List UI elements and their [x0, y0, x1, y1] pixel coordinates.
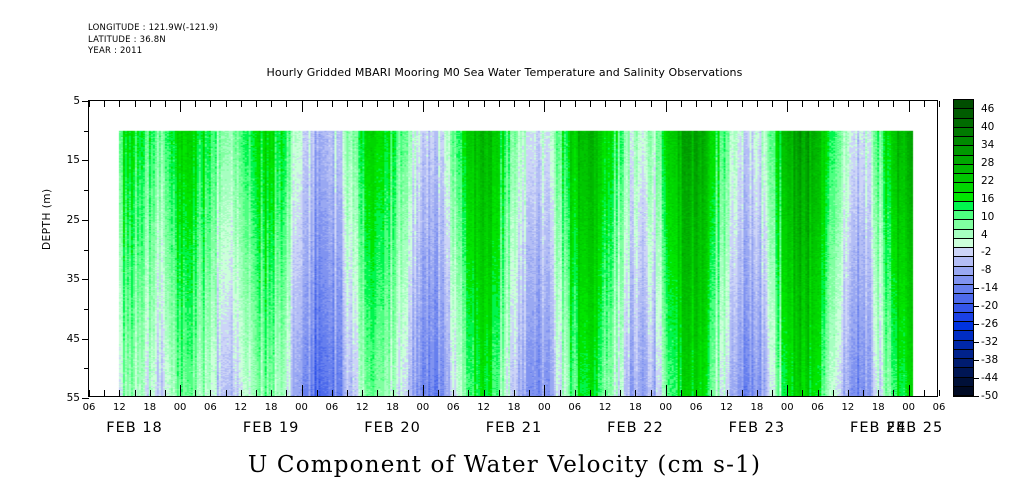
x-tick: [605, 390, 606, 396]
colorbar-label: -20: [981, 300, 998, 312]
x-tick: [453, 390, 454, 396]
colorbar-label: -44: [981, 372, 998, 384]
x-tick: [408, 101, 409, 107]
x-tick: [468, 390, 469, 396]
x-tick: [347, 390, 348, 396]
x-tick: [666, 101, 667, 112]
colorbar-label: -8: [981, 264, 991, 276]
x-tick: [514, 101, 515, 107]
x-tick: [119, 101, 120, 107]
x-tick: [317, 390, 318, 396]
x-tick: [818, 390, 819, 396]
x-tick: [848, 390, 849, 396]
x-tick: [195, 101, 196, 107]
colorbar-band: [954, 156, 973, 165]
x-tick: [393, 390, 394, 396]
colorbar-label: 22: [981, 175, 994, 187]
x-tick: [104, 101, 105, 107]
x-tick: [150, 390, 151, 396]
x-tick: [909, 385, 910, 396]
colorbar-label: 10: [981, 211, 994, 223]
x-hour-label: 18: [872, 402, 885, 413]
x-tick: [286, 390, 287, 396]
x-tick: [787, 101, 788, 112]
y-tick-label: 15: [67, 154, 80, 166]
x-tick: [696, 390, 697, 396]
x-tick: [150, 101, 151, 107]
x-tick: [484, 390, 485, 396]
y-tick-label: 25: [67, 214, 80, 226]
x-tick: [742, 101, 743, 107]
x-tick: [180, 101, 181, 112]
x-tick: [165, 390, 166, 396]
x-tick: [256, 101, 257, 107]
x-tick: [757, 390, 758, 396]
x-tick: [651, 101, 652, 107]
x-hour-label: 18: [265, 402, 278, 413]
variable-title: U Component of Water Velocity (cm s-1): [0, 452, 1009, 478]
x-tick: [878, 101, 879, 107]
x-hour-label: 06: [204, 402, 217, 413]
x-tick: [772, 390, 773, 396]
x-tick: [484, 101, 485, 107]
y-tick-minor: [84, 131, 89, 132]
x-tick: [135, 390, 136, 396]
x-tick: [226, 101, 227, 107]
colorbar-tick: [973, 360, 979, 361]
x-tick: [423, 385, 424, 396]
colorbar-band: [954, 183, 973, 192]
colorbar-label: -50: [981, 390, 998, 402]
x-tick: [757, 101, 758, 107]
x-hour-label: 06: [690, 402, 703, 413]
colorbar-tick: [973, 324, 979, 325]
x-tick: [544, 385, 545, 396]
colorbar-label: -38: [981, 354, 998, 366]
x-tick: [605, 101, 606, 107]
colorbar-band: [954, 276, 973, 285]
x-hour-label: 06: [811, 402, 824, 413]
x-tick: [590, 390, 591, 396]
x-tick: [241, 390, 242, 396]
x-tick: [711, 390, 712, 396]
x-hour-label: 00: [902, 402, 915, 413]
x-tick: [620, 390, 621, 396]
colorbar-band: [954, 109, 973, 118]
x-tick: [575, 390, 576, 396]
x-tick: [863, 390, 864, 396]
x-tick: [210, 101, 211, 107]
x-tick: [772, 101, 773, 107]
x-tick: [544, 101, 545, 112]
x-tick: [560, 390, 561, 396]
x-tick: [271, 101, 272, 107]
x-hour-label: 18: [629, 402, 642, 413]
x-tick: [438, 390, 439, 396]
y-tick-label: 35: [67, 273, 80, 285]
x-tick: [362, 390, 363, 396]
y-tick-label: 55: [67, 392, 80, 404]
x-tick: [681, 390, 682, 396]
x-hour-label: 00: [538, 402, 551, 413]
y-tick-minor: [84, 250, 89, 251]
x-hour-label: 12: [599, 402, 612, 413]
x-tick: [393, 101, 394, 107]
x-day-label: FEB 23: [729, 420, 786, 436]
x-tick: [893, 390, 894, 396]
colorbar-band: [954, 294, 973, 303]
x-hour-label: 12: [477, 402, 490, 413]
colorbar-band: [954, 165, 973, 174]
x-tick: [438, 101, 439, 107]
colorbar-band: [954, 137, 973, 146]
x-tick: [833, 101, 834, 107]
x-tick: [332, 390, 333, 396]
y-tick-minor: [84, 190, 89, 191]
x-day-label: FEB 19: [243, 420, 300, 436]
colorbar-band: [954, 202, 973, 211]
x-tick: [423, 101, 424, 112]
x-hour-label: 12: [842, 402, 855, 413]
x-tick: [165, 101, 166, 107]
y-tick-major: [82, 101, 89, 102]
x-tick: [119, 390, 120, 396]
colorbar: 464034282216104-2-8-14-20-26-32-38-44-50: [953, 99, 974, 397]
x-tick: [635, 390, 636, 396]
x-tick: [742, 390, 743, 396]
x-tick: [635, 101, 636, 107]
x-tick: [818, 101, 819, 107]
x-tick: [104, 390, 105, 396]
heatmap-plot-area: 51525354555 0612180006121800061218000612…: [88, 100, 938, 397]
x-tick: [302, 101, 303, 112]
y-tick-major: [82, 398, 89, 399]
colorbar-band: [954, 239, 973, 248]
colorbar-band: [954, 350, 973, 359]
y-tick-minor: [84, 368, 89, 369]
colorbar-tick: [973, 396, 979, 397]
x-hour-label: 00: [295, 402, 308, 413]
colorbar-band: [954, 359, 973, 368]
y-tick-label: 5: [73, 95, 80, 107]
x-day-label: FEB 18: [106, 420, 163, 436]
colorbar-band: [954, 285, 973, 294]
heatmap-canvas: [89, 101, 937, 396]
colorbar-band: [954, 341, 973, 350]
colorbar-tick: [973, 306, 979, 307]
colorbar-tick: [973, 342, 979, 343]
colorbar-band: [954, 322, 973, 331]
x-tick: [909, 101, 910, 112]
x-tick: [347, 101, 348, 107]
colorbar-band: [954, 304, 973, 313]
x-tick: [575, 101, 576, 107]
colorbar-band: [954, 313, 973, 322]
x-tick: [833, 390, 834, 396]
x-tick: [560, 101, 561, 107]
x-tick: [256, 390, 257, 396]
colorbar-label: 16: [981, 193, 994, 205]
x-hour-label: 12: [113, 402, 126, 413]
x-tick: [939, 101, 940, 107]
x-tick: [651, 390, 652, 396]
x-hour-label: 06: [325, 402, 338, 413]
x-hour-label: 06: [83, 402, 96, 413]
colorbar-band: [954, 100, 973, 109]
x-tick: [468, 101, 469, 107]
x-tick: [499, 390, 500, 396]
colorbar-band: [954, 257, 973, 266]
y-tick-minor: [84, 309, 89, 310]
x-tick: [696, 101, 697, 107]
x-hour-label: 12: [234, 402, 247, 413]
x-tick: [893, 101, 894, 107]
colorbar-band: [954, 331, 973, 340]
x-tick: [271, 390, 272, 396]
colorbar-band: [954, 119, 973, 128]
x-tick: [787, 385, 788, 396]
x-tick: [802, 390, 803, 396]
x-tick: [377, 101, 378, 107]
x-tick: [529, 101, 530, 107]
x-day-label: FEB 25: [887, 420, 944, 436]
x-tick: [863, 101, 864, 107]
y-tick-label: 45: [67, 333, 80, 345]
x-tick: [666, 385, 667, 396]
x-tick: [848, 101, 849, 107]
colorbar-band: [954, 174, 973, 183]
x-tick: [529, 390, 530, 396]
colorbar-label: 34: [981, 139, 994, 151]
colorbar-band: [954, 368, 973, 377]
colorbar-band: [954, 230, 973, 239]
station-metadata: LONGITUDE : 121.9W(-121.9) LATITUDE : 36…: [88, 23, 218, 58]
x-tick: [241, 101, 242, 107]
colorbar-band: [954, 220, 973, 229]
y-axis-title: DEPTH (m): [41, 188, 53, 250]
colorbar-label: -2: [981, 246, 991, 258]
colorbar-band: [954, 193, 973, 202]
y-tick-major: [82, 339, 89, 340]
x-tick: [180, 385, 181, 396]
colorbar-label: 4: [981, 229, 988, 241]
y-tick-major: [82, 220, 89, 221]
x-day-label: FEB 22: [607, 420, 664, 436]
x-tick: [620, 101, 621, 107]
colorbar-band: [954, 248, 973, 257]
x-tick: [408, 390, 409, 396]
x-tick: [924, 101, 925, 107]
x-hour-label: 12: [720, 402, 733, 413]
x-tick: [377, 390, 378, 396]
x-tick: [362, 101, 363, 107]
x-hour-label: 06: [933, 402, 946, 413]
colorbar-label: 46: [981, 103, 994, 115]
x-day-label: FEB 20: [364, 420, 421, 436]
x-hour-label: 00: [174, 402, 187, 413]
x-tick: [514, 390, 515, 396]
y-tick-major: [82, 160, 89, 161]
x-hour-label: 18: [143, 402, 156, 413]
x-tick: [89, 390, 90, 396]
x-tick: [286, 101, 287, 107]
x-tick: [802, 101, 803, 107]
colorbar-band: [954, 146, 973, 155]
x-tick: [499, 101, 500, 107]
x-tick: [681, 101, 682, 107]
x-tick: [727, 390, 728, 396]
x-hour-label: 18: [508, 402, 521, 413]
colorbar-label: 28: [981, 157, 994, 169]
x-hour-label: 06: [447, 402, 460, 413]
colorbar-band: [954, 267, 973, 276]
x-tick: [924, 390, 925, 396]
colorbar-label: -26: [981, 318, 998, 330]
x-tick: [453, 101, 454, 107]
chart-title: Hourly Gridded MBARI Mooring M0 Sea Wate…: [0, 66, 1009, 79]
colorbar-band: [954, 378, 973, 387]
colorbar-tick: [973, 378, 979, 379]
x-hour-label: 00: [781, 402, 794, 413]
x-day-label: FEB 21: [486, 420, 543, 436]
x-tick: [195, 390, 196, 396]
x-tick: [317, 101, 318, 107]
colorbar-label: 40: [981, 121, 994, 133]
x-tick: [878, 390, 879, 396]
colorbar-band: [954, 211, 973, 220]
x-hour-label: 00: [659, 402, 672, 413]
x-tick: [332, 101, 333, 107]
colorbar-label: -32: [981, 336, 998, 348]
longitude-text: LONGITUDE : 121.9W(-121.9): [88, 23, 218, 33]
y-tick-major: [82, 279, 89, 280]
latitude-text: LATITUDE : 36.8N: [88, 35, 166, 45]
x-tick: [711, 101, 712, 107]
colorbar-label: -14: [981, 282, 998, 294]
x-tick: [210, 390, 211, 396]
x-hour-label: 18: [386, 402, 399, 413]
colorbar-tick: [973, 288, 979, 289]
colorbar-band: [954, 387, 973, 396]
colorbar-band: [954, 128, 973, 137]
x-tick: [89, 101, 90, 107]
x-tick: [939, 390, 940, 396]
year-text: YEAR : 2011: [88, 46, 142, 56]
x-tick: [590, 101, 591, 107]
x-tick: [135, 101, 136, 107]
x-tick: [302, 385, 303, 396]
x-hour-label: 06: [568, 402, 581, 413]
x-hour-label: 12: [356, 402, 369, 413]
x-hour-label: 18: [750, 402, 763, 413]
x-tick: [226, 390, 227, 396]
x-tick: [727, 101, 728, 107]
x-hour-label: 00: [417, 402, 430, 413]
